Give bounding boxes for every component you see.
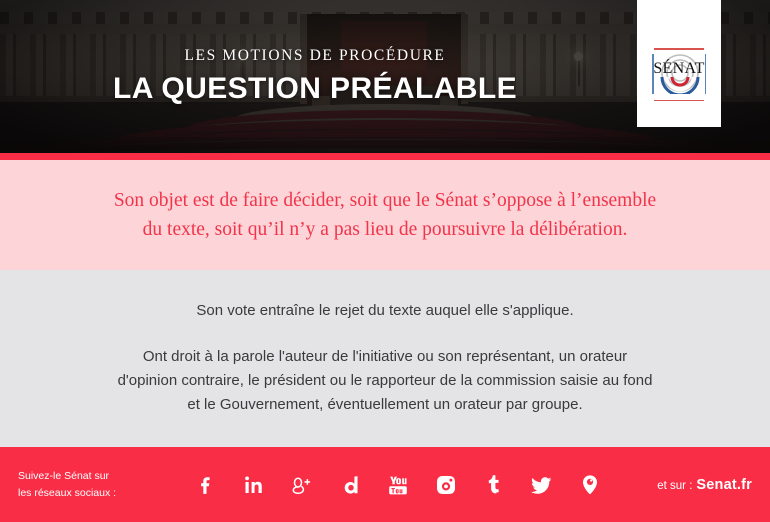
tumblr-icon[interactable] (481, 472, 507, 498)
body-paragraph-2: Ont droit à la parole l'auteur de l'init… (118, 345, 653, 418)
definition-text: Son objet est de faire décider, soit que… (114, 186, 656, 245)
header-text-block: LES MOTIONS DE PROCÉDURE LA QUESTION PRÉ… (0, 0, 630, 153)
senat-site-link[interactable]: et sur : Senat.fr (657, 477, 752, 493)
instagram-icon[interactable] (433, 472, 459, 498)
social-links (138, 472, 657, 498)
header-banner: LES MOTIONS DE PROCÉDURE LA QUESTION PRÉ… (0, 0, 770, 153)
senat-logo-graphic: SÉNAT (648, 45, 710, 103)
periscope-icon[interactable] (577, 472, 603, 498)
header-kicker: LES MOTIONS DE PROCÉDURE (184, 47, 445, 65)
logo-rule-bottom (654, 100, 704, 102)
senat-logo: SÉNAT (637, 0, 721, 127)
body-section: Son vote entraîne le rejet du texte auqu… (0, 270, 770, 447)
linkedin-icon[interactable] (241, 472, 267, 498)
definition-section: Son objet est de faire décider, soit que… (0, 160, 770, 270)
dailymotion-icon[interactable] (337, 472, 363, 498)
body-paragraph-2-line-1: Ont droit à la parole l'auteur de l'init… (143, 348, 627, 365)
definition-line-2: du texte, soit qu’il n’y a pas lieu de p… (143, 219, 628, 240)
follow-label-line-1: Suivez-le Sénat sur (18, 468, 138, 484)
facebook-icon[interactable] (193, 472, 219, 498)
logo-wordmark: SÉNAT (648, 61, 710, 77)
senat-brand: Senat.fr (696, 477, 752, 493)
definition-line-1: Son objet est de faire décider, soit que… (114, 190, 656, 211)
footer-bar: Suivez-le Sénat sur les réseaux sociaux … (0, 447, 770, 522)
red-divider-bar (0, 153, 770, 160)
page-title: LA QUESTION PRÉALABLE (113, 72, 517, 106)
infographic-page: LES MOTIONS DE PROCÉDURE LA QUESTION PRÉ… (0, 0, 770, 522)
et-sur-label: et sur : (657, 480, 692, 492)
body-paragraph-1: Son vote entraîne le rejet du texte auqu… (196, 299, 573, 323)
body-paragraph-2-line-3: et le Gouvernement, éventuellement un or… (187, 396, 582, 413)
logo-rule-top (654, 48, 704, 50)
follow-label-line-2: les réseaux sociaux : (18, 485, 138, 501)
google-plus-icon[interactable] (289, 472, 315, 498)
youtube-icon[interactable] (385, 472, 411, 498)
twitter-icon[interactable] (529, 472, 555, 498)
body-paragraph-2-line-2: d'opinion contraire, le président ou le … (118, 372, 653, 389)
follow-label: Suivez-le Sénat sur les réseaux sociaux … (18, 468, 138, 501)
